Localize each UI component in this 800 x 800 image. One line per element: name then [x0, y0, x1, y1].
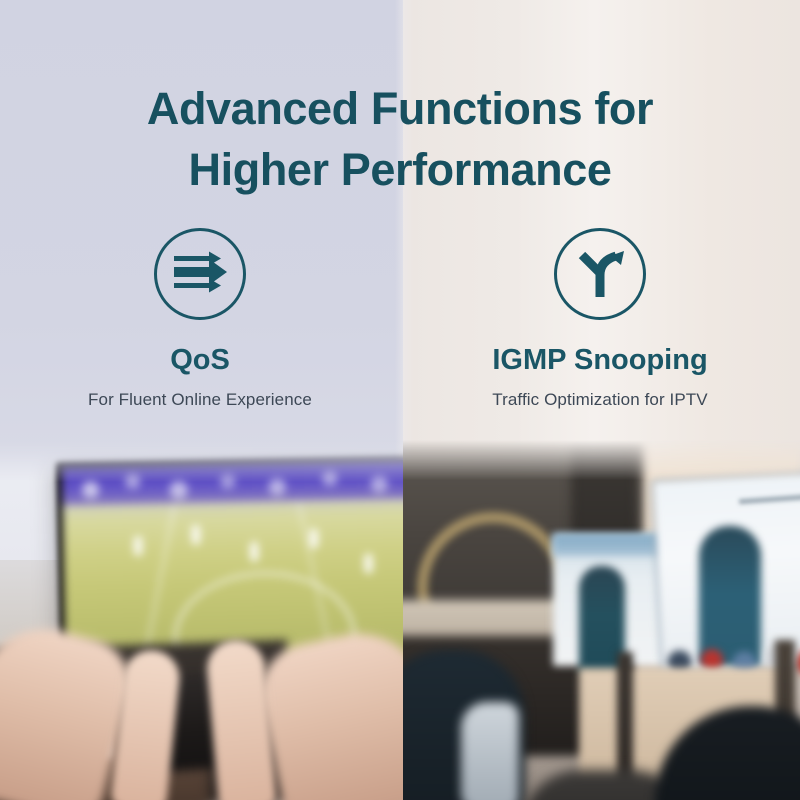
feature-igmp-snooping: IGMP Snooping Traffic Optimization for I…	[400, 228, 800, 410]
feature-title: QoS	[170, 344, 230, 377]
content-layer: Advanced Functions for Higher Performanc…	[0, 0, 800, 800]
three-arrows-icon	[171, 247, 229, 302]
page-title-line-2: Higher Performance	[0, 139, 800, 200]
feature-subtitle: Traffic Optimization for IPTV	[492, 390, 707, 410]
feature-qos: QoS For Fluent Online Experience	[0, 228, 400, 410]
page-title: Advanced Functions for Higher Performanc…	[0, 78, 800, 200]
feature-list: QoS For Fluent Online Experience	[0, 228, 800, 410]
feature-title: IGMP Snooping	[492, 344, 707, 377]
page-title-line-1: Advanced Functions for	[0, 78, 800, 139]
feature-subtitle: For Fluent Online Experience	[88, 390, 312, 410]
igmp-icon-badge	[554, 228, 646, 320]
road-fork-arrow-icon	[572, 245, 628, 304]
qos-icon-badge	[154, 228, 246, 320]
promo-banner: Advanced Functions for Higher Performanc…	[0, 0, 800, 800]
